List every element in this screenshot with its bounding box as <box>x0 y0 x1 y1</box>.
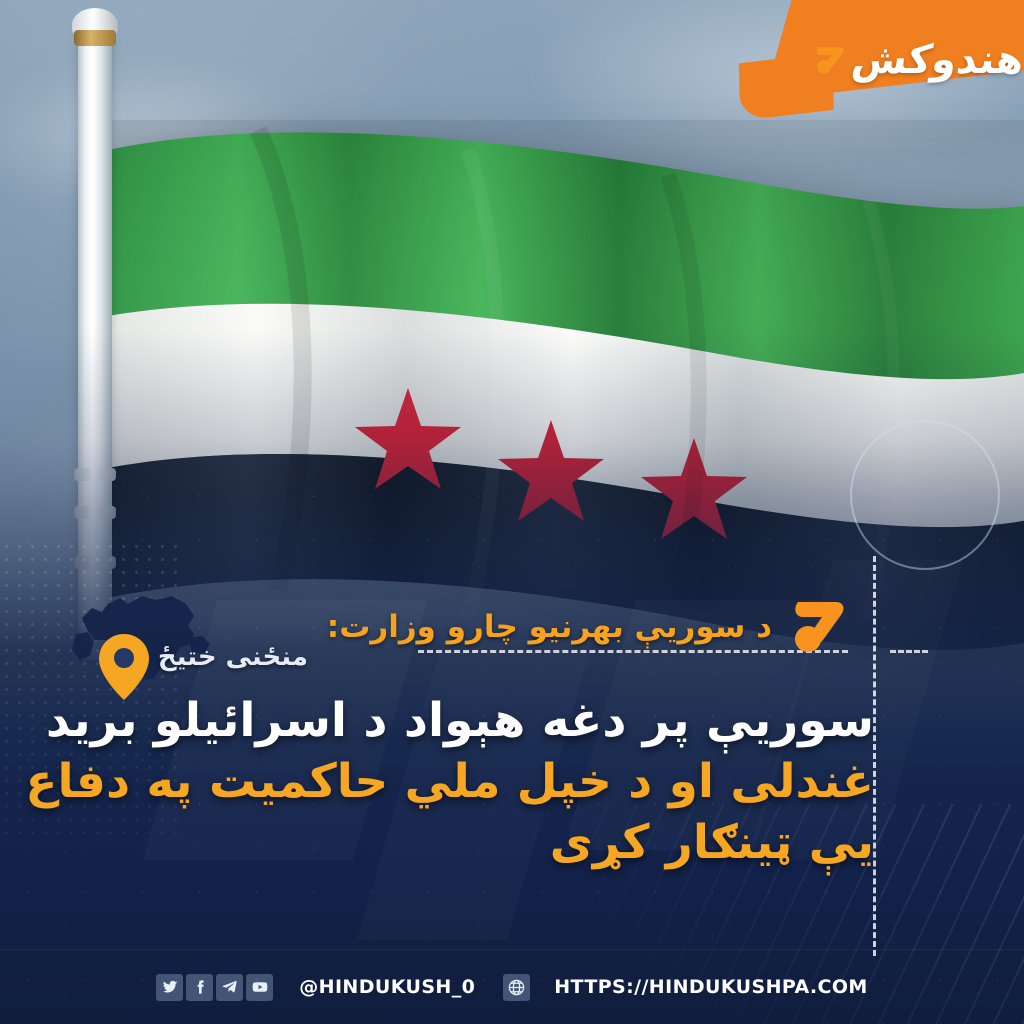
headline-line-2: غندلی او د خپل ملي حاکمیت په دفاع <box>70 751 874 812</box>
source-kicker: د سوریې بهرنیو چارو وزارت: <box>348 596 848 658</box>
twitter-icon[interactable] <box>156 974 183 1001</box>
headline-line-1: سوریې پر دغه هېواد د اسرائیلو برید <box>70 690 874 751</box>
telegram-icon[interactable] <box>216 974 243 1001</box>
news-poster: هندوکش منځنی ختیځ <box>0 0 1024 1024</box>
circle-outline-decoration <box>850 420 1000 570</box>
brand-wordmark: هندوکش <box>812 30 1002 90</box>
globe-icon <box>503 974 530 1001</box>
hindukush-swoosh-icon <box>812 43 846 77</box>
hindukush-swoosh-icon <box>786 596 848 658</box>
social-handle[interactable]: @HINDUKUSH_0 <box>299 976 475 998</box>
region-badge: منځنی ختیځ <box>34 576 314 696</box>
brand-name: هندوکش <box>850 40 1024 80</box>
website-url[interactable]: HTTPS://HINDUKUSHPA.COM <box>554 976 867 998</box>
flag-pole-gold-ring-icon <box>74 30 116 46</box>
youtube-icon[interactable] <box>246 974 273 1001</box>
brand-logo[interactable]: هندوکش <box>794 0 1024 120</box>
headline-line-3: یې ټینګار کړی <box>70 812 874 873</box>
dashed-horizontal-divider-short <box>890 650 928 653</box>
footer-bar: @HINDUKUSH_0 HTTPS://HINDUKUSHPA.COM <box>0 950 1024 1024</box>
region-label: منځنی ختیځ <box>158 642 308 672</box>
facebook-icon[interactable] <box>186 974 213 1001</box>
social-icon-group <box>156 974 273 1001</box>
headline: سوریې پر دغه هېواد د اسرائیلو برید غندلی… <box>70 690 874 873</box>
kicker-text: د سوریې بهرنیو چارو وزارت: <box>327 609 772 645</box>
